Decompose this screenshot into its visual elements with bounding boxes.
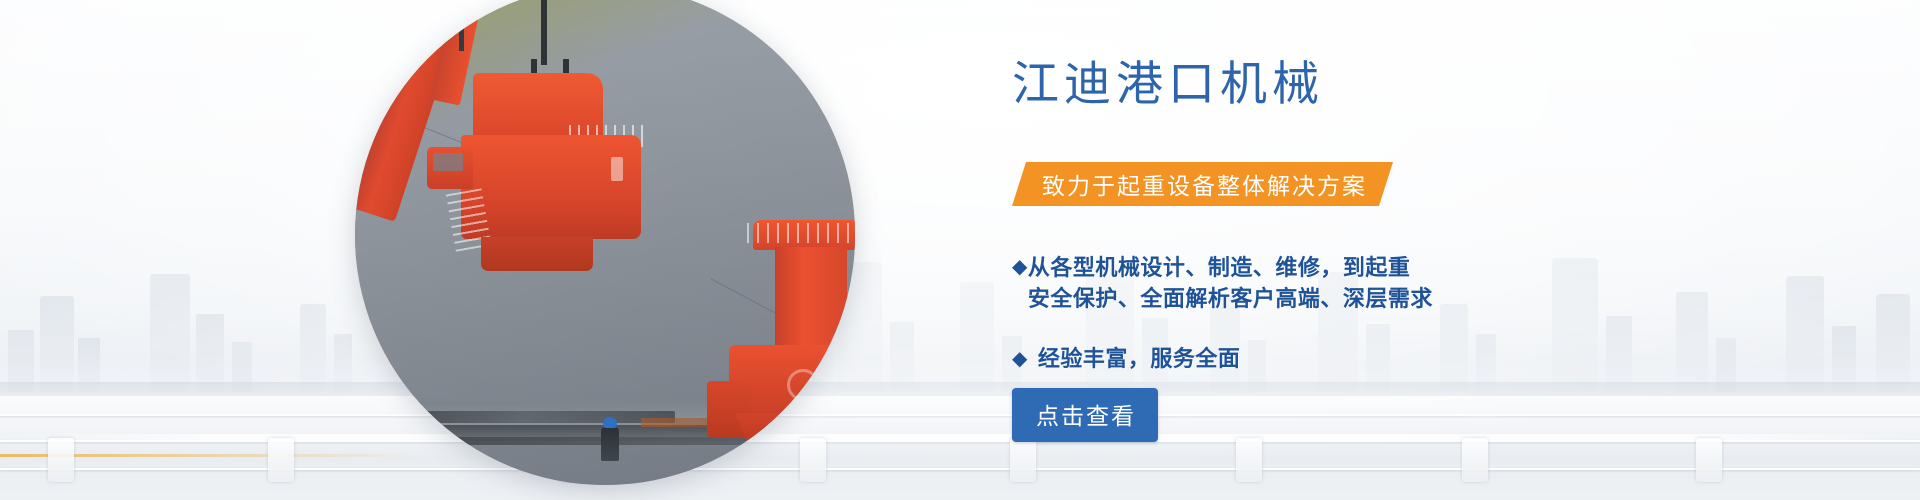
- diamond-icon: ◆: [1012, 344, 1028, 374]
- banner-content: 江迪港口机械 致力于起重设备整体解决方案 ◆ 从各型机械设计、制造、维修，到起重…: [1012, 0, 1772, 500]
- bullet-item: ◆ 经验丰富，服务全面: [1012, 344, 1712, 374]
- port-crane-photo: [355, 0, 855, 485]
- diamond-icon: ◆: [1012, 252, 1028, 283]
- banner-headline: 江迪港口机械: [1012, 60, 1324, 107]
- bullet-item: ◆ 从各型机械设计、制造、维修，到起重 安全保护、全面解析客户高端、深层需求: [1012, 252, 1712, 314]
- banner-ribbon: 致力于起重设备整体解决方案: [1012, 162, 1393, 206]
- banner-bullets: ◆ 从各型机械设计、制造、维修，到起重 安全保护、全面解析客户高端、深层需求 ◆…: [1012, 252, 1712, 374]
- promo-banner: 江迪港口机械 致力于起重设备整体解决方案 ◆ 从各型机械设计、制造、维修，到起重…: [0, 0, 1920, 500]
- bullet-text: 从各型机械设计、制造、维修，到起重 安全保护、全面解析客户高端、深层需求: [1028, 252, 1433, 314]
- click-to-view-button[interactable]: 点击查看: [1012, 388, 1158, 442]
- bullet-text: 经验丰富，服务全面: [1038, 344, 1241, 374]
- ribbon-text: 致力于起重设备整体解决方案: [1042, 167, 1367, 201]
